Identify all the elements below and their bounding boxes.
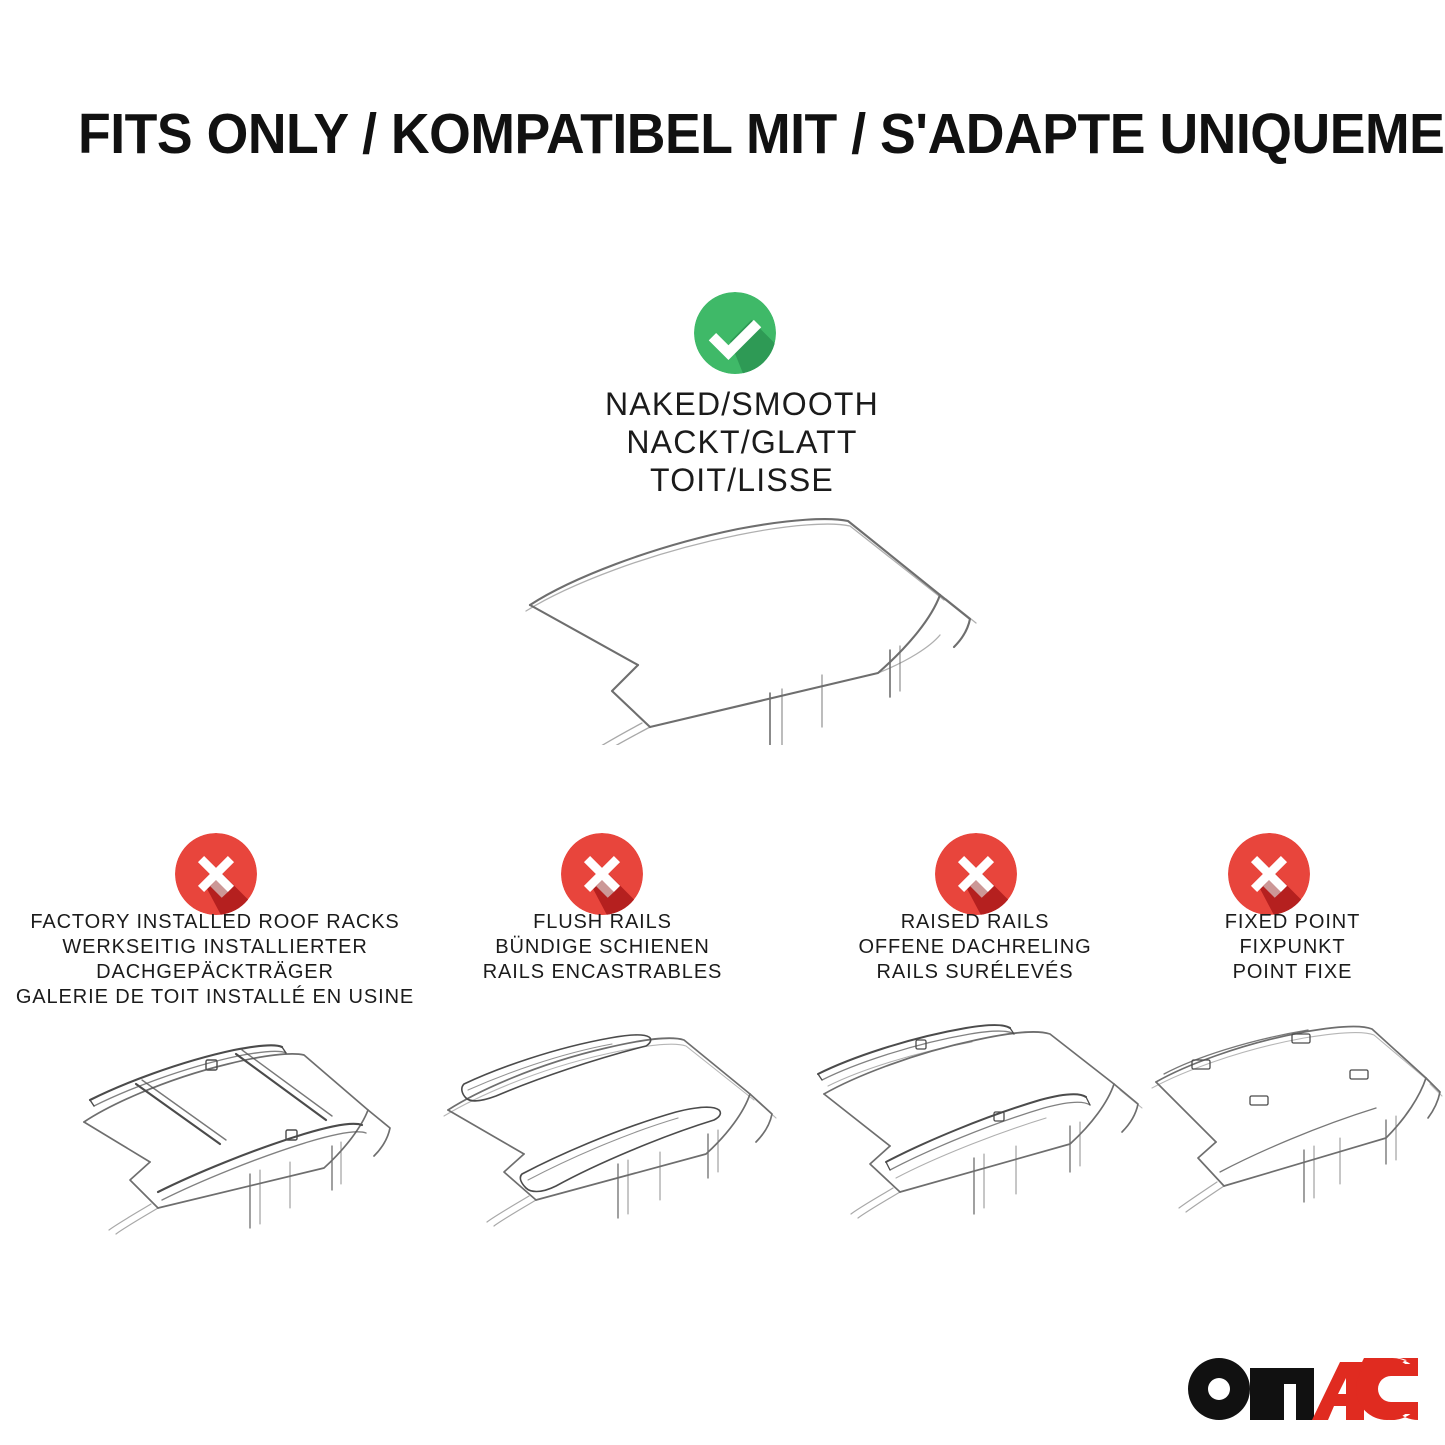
caption-line: BÜNDIGE SCHIENEN xyxy=(420,935,785,960)
caption-line: POINT FIXE xyxy=(1145,960,1440,985)
caption-line: WERKSEITIG INSTALLIERTER xyxy=(5,935,425,960)
roof-line-art xyxy=(418,1022,783,1242)
logo-letter-m xyxy=(1250,1368,1314,1420)
roof-line-art xyxy=(38,1022,403,1242)
omac-logo-svg xyxy=(1188,1358,1418,1420)
red-x-svg xyxy=(1228,833,1310,915)
caption-line: RAILS ENCASTRABLES xyxy=(420,960,785,985)
caption-line: FIXPUNKT xyxy=(1145,935,1440,960)
green-check-circle-icon xyxy=(694,292,776,374)
green-check-svg xyxy=(694,292,776,374)
roof-line-art xyxy=(1140,1022,1445,1242)
caption-line: RAILS SURÉLEVÉS xyxy=(790,960,1160,985)
roof-line-art xyxy=(470,495,1010,745)
caption-line: NACKT/GLATT xyxy=(472,423,1012,461)
car-roof-fixed-point-illustration xyxy=(1140,1022,1445,1242)
caption-line: RAISED RAILS xyxy=(790,910,1160,935)
page-title: FITS ONLY / KOMPATIBEL MIT / S'ADAPTE UN… xyxy=(78,103,1300,165)
caption-line: DACHGEPÄCKTRÄGER xyxy=(5,960,425,985)
roof-line-art xyxy=(788,1022,1153,1242)
caption-line: NAKED/SMOOTH xyxy=(472,385,1012,423)
red-x-circle-icon xyxy=(1228,833,1310,915)
red-x-circle-icon xyxy=(935,833,1017,915)
car-roof-factory-roof-racks-illustration xyxy=(38,1022,403,1242)
caption-line: FLUSH RAILS xyxy=(420,910,785,935)
red-x-svg xyxy=(175,833,257,915)
caption-line: TOIT/LISSE xyxy=(472,461,1012,499)
car-roof-raised-rails-illustration xyxy=(788,1022,1153,1242)
caption-line: FACTORY INSTALLED ROOF RACKS xyxy=(5,910,425,935)
red-x-svg xyxy=(561,833,643,915)
logo-letter-o xyxy=(1188,1358,1250,1420)
incompatible-caption-flush-rails: FLUSH RAILS BÜNDIGE SCHIENEN RAILS ENCAS… xyxy=(420,910,785,985)
incompatible-caption-factory-racks: FACTORY INSTALLED ROOF RACKS WERKSEITIG … xyxy=(5,910,425,1010)
car-roof-naked-smooth-illustration xyxy=(470,495,1010,745)
red-x-svg xyxy=(935,833,1017,915)
omac-logo xyxy=(1188,1358,1418,1420)
red-x-circle-icon xyxy=(561,833,643,915)
caption-line: OFFENE DACHRELING xyxy=(790,935,1160,960)
incompatible-caption-raised-rails: RAISED RAILS OFFENE DACHRELING RAILS SUR… xyxy=(790,910,1160,985)
caption-line: GALERIE DE TOIT INSTALLÉ EN USINE xyxy=(5,985,425,1010)
red-x-circle-icon xyxy=(175,833,257,915)
car-roof-flush-rails-illustration xyxy=(418,1022,783,1242)
infographic-page: FITS ONLY / KOMPATIBEL MIT / S'ADAPTE UN… xyxy=(0,0,1445,1445)
caption-line: FIXED POINT xyxy=(1145,910,1440,935)
compatible-caption: NAKED/SMOOTH NACKT/GLATT TOIT/LISSE xyxy=(472,385,1012,499)
incompatible-caption-fixed-point: FIXED POINT FIXPUNKT POINT FIXE xyxy=(1145,910,1440,985)
